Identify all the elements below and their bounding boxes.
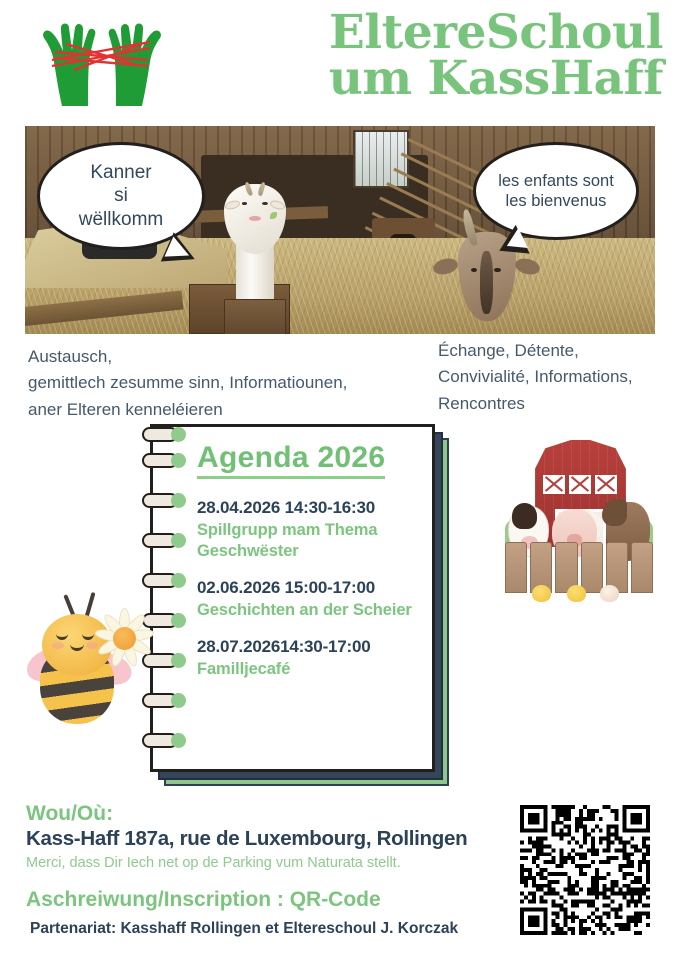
white-goat (195, 159, 315, 334)
brown-goat-face-stripe (480, 251, 493, 314)
speech-bubble-luxembourgish: Kanner si wëllkomm (37, 142, 205, 250)
white-goat-ear-right (269, 199, 285, 210)
speech-bubble-french: les enfants sont les bienvenus (473, 142, 639, 240)
spiral-ring (142, 533, 186, 548)
signup-label: Aschreiwung/Inscription : QR-Code (26, 888, 381, 912)
bee-cheek-left (52, 642, 64, 649)
chick (532, 585, 551, 602)
red-barn-farm-animals-illustration (505, 430, 653, 602)
title-line-1: EltereSchoul (263, 10, 663, 56)
spiral-ring (142, 427, 186, 442)
agenda-notebook: Agenda 2026 28.04.2026 14:30-16:30 Spill… (150, 424, 450, 784)
green-leaf (270, 212, 277, 219)
white-goat-eye-left (242, 202, 248, 205)
agenda-event-title: Geschichten an der Scheier (197, 600, 422, 621)
agenda-event: 02.06.2026 15:00-17:00 Geschichten an de… (197, 577, 422, 621)
goats-in-barn-photo: Kanner si wëllkomm les enfants sont les … (25, 126, 655, 334)
agenda-event-date: 28.04.2026 14:30-16:30 (197, 497, 422, 520)
white-goat-head (224, 184, 286, 254)
where-label: Wou/Où: (26, 802, 113, 826)
agenda-title: Agenda 2026 (197, 441, 385, 479)
spiral-ring (142, 453, 186, 468)
page-title: EltereSchoul um KassHaff (263, 10, 663, 102)
title-line-2: um KassHaff (263, 56, 663, 102)
intro-text-luxembourgish: Austausch, gemittlech zesumme sinn, Info… (28, 344, 347, 423)
agenda-event-date: 02.06.2026 15:00-17:00 (197, 577, 422, 600)
notebook-page: Agenda 2026 28.04.2026 14:30-16:30 Spill… (150, 424, 435, 772)
agenda-event: 28.07.202614:30-17:00 Familljecafé (197, 636, 422, 680)
egg (600, 585, 619, 602)
wooden-post (224, 299, 286, 334)
agenda-event-title: Spillgrupp mam Thema Geschwëster (197, 520, 422, 562)
white-goat-horn-left (244, 182, 253, 197)
white-goat-nose (249, 216, 261, 221)
agenda-event-date: 28.07.202614:30-17:00 (197, 636, 422, 659)
agenda-content: Agenda 2026 28.04.2026 14:30-16:30 Spill… (197, 441, 422, 695)
brown-goat-eye-left (471, 268, 477, 272)
poster-header: EltereSchoul um KassHaff (0, 0, 679, 122)
agenda-event: 28.04.2026 14:30-16:30 Spillgrupp mam Th… (197, 497, 422, 562)
intro-text-french: Échange, Détente, Convivialité, Informat… (438, 338, 633, 417)
brown-goat-eye-right (494, 268, 500, 272)
white-goat-ear-left (224, 199, 240, 210)
barn-vent-windows (543, 475, 617, 494)
speech-bubble-right-text: les enfants sont les bienvenus (488, 171, 624, 211)
spiral-binding (153, 427, 179, 769)
spiral-ring (142, 573, 186, 588)
agenda-event-title: Familljecafé (197, 659, 422, 680)
white-goat-eye-right (262, 202, 268, 205)
daisy-center (113, 627, 136, 650)
white-goat-horn-right (257, 182, 266, 197)
spiral-ring (142, 493, 186, 508)
venue-address: Kass-Haff 187a, rue de Luxembourg, Rolli… (26, 827, 467, 851)
speech-bubble-left-text: Kanner si wëllkomm (69, 161, 173, 231)
bee-with-daisy-illustration (24, 592, 156, 728)
daisy-flower (92, 606, 156, 670)
parking-note: Merci, dass Dir Iech net op de Parking v… (26, 855, 401, 871)
hands-cats-cradle-logo (22, 14, 182, 110)
qr-code[interactable] (520, 805, 650, 935)
spiral-ring (142, 733, 186, 748)
chick (567, 585, 586, 602)
partnership-note: Partenariat: Kasshaff Rollingen et Elter… (30, 920, 458, 938)
